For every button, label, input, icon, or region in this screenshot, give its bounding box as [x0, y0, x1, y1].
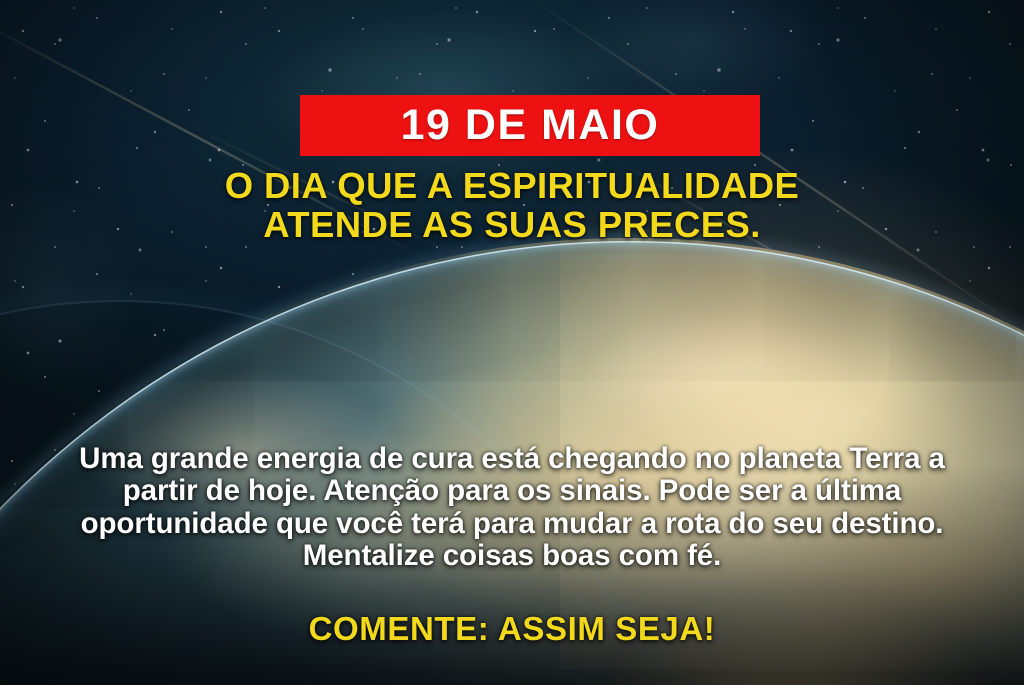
headline-line-2: ATENDE AS SUAS PRECES. [0, 205, 1024, 244]
call-to-action-text: COMENTE: ASSIM SEJA! [0, 612, 1024, 645]
date-badge: 19 DE MAIO [300, 95, 760, 156]
poster-content: 19 DE MAIO O DIA QUE A ESPIRITUALIDADE A… [0, 0, 1024, 685]
headline: O DIA QUE A ESPIRITUALIDADE ATENDE AS SU… [0, 166, 1024, 245]
headline-line-1: O DIA QUE A ESPIRITUALIDADE [0, 166, 1024, 205]
poster-canvas: 19 DE MAIO O DIA QUE A ESPIRITUALIDADE A… [0, 0, 1024, 685]
body-paragraph: Uma grande energia de cura está chegando… [62, 443, 962, 572]
date-badge-label: 19 DE MAIO [401, 104, 660, 147]
